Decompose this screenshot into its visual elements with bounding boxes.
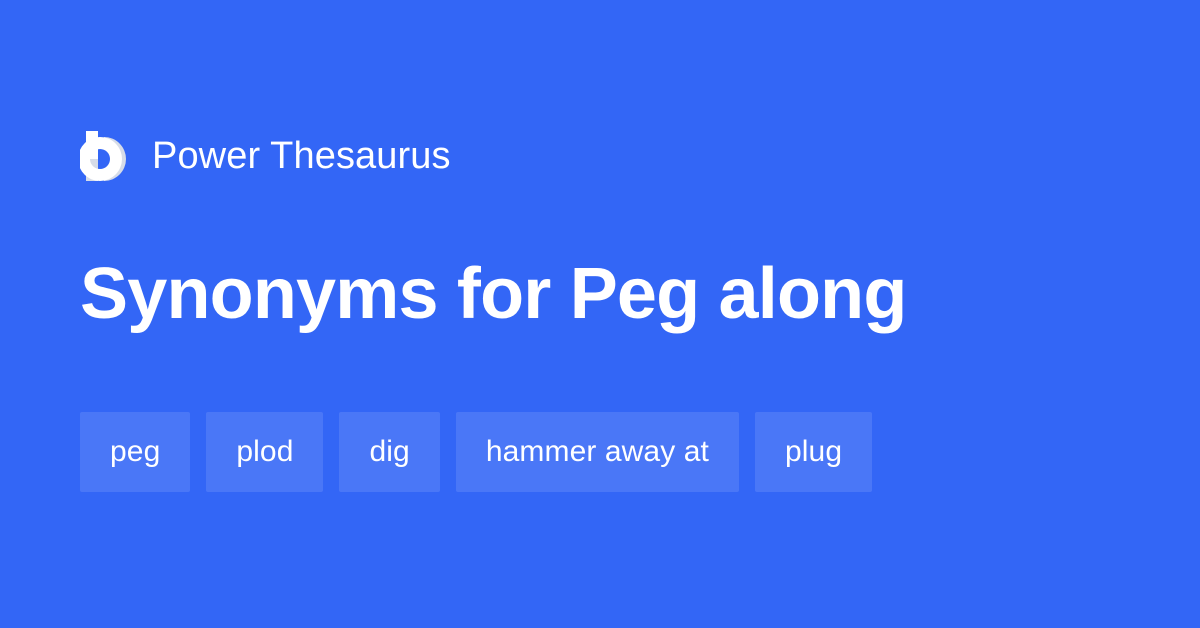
brand-lockup[interactable]: Power Thesaurus: [80, 128, 451, 184]
power-thesaurus-b-logo-icon: [80, 131, 128, 181]
brand-name: Power Thesaurus: [152, 137, 451, 175]
page-title: Synonyms for Peg along: [80, 252, 907, 336]
synonym-chip-list: peg plod dig hammer away at plug: [80, 412, 872, 492]
synonym-chip[interactable]: dig: [339, 412, 439, 492]
synonym-chip[interactable]: hammer away at: [456, 412, 739, 492]
synonym-chip[interactable]: plod: [206, 412, 323, 492]
share-card: Power Thesaurus Synonyms for Peg along p…: [0, 0, 1200, 628]
synonym-chip[interactable]: plug: [755, 412, 872, 492]
synonym-chip[interactable]: peg: [80, 412, 190, 492]
